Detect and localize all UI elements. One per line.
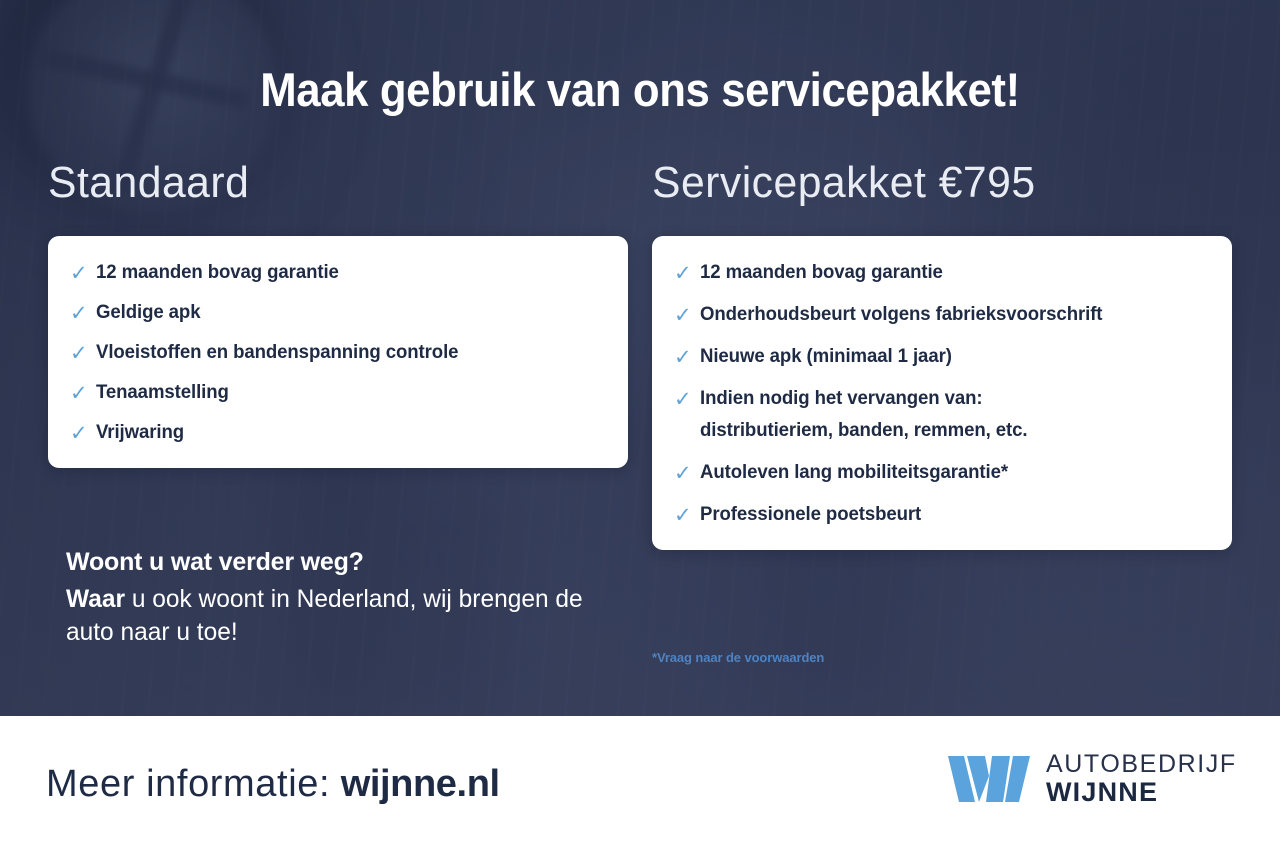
conditions-footnote: *Vraag naar de voorwaarden [652, 650, 824, 665]
list-item-sublabel: distributieriem, banden, remmen, etc. [700, 420, 1027, 442]
logo-line-wijnne: WIJNNE [1046, 779, 1237, 806]
column-title-servicepakket: Servicepakket €795 [652, 160, 1215, 206]
more-info-line: Meer informatie: wijnne.nl [46, 763, 500, 806]
servicepakket-feature-card: ✓ 12 maanden bovag garantie ✓ Onderhouds… [652, 236, 1232, 550]
more-info-label: Meer informatie: [46, 763, 330, 805]
list-item: ✓ Geldige apk [70, 302, 602, 324]
promo-body-bold: Waar [66, 585, 125, 613]
wijnne-w-mark-icon [948, 756, 1030, 802]
promo-title: Woont u wat verder weg? [66, 548, 626, 577]
page-title: Maak gebruik van ons servicepakket! [45, 62, 1235, 117]
check-icon: ✓ [70, 423, 89, 444]
promo-body-rest: u ook woont in Nederland, wij brengen de… [66, 585, 583, 646]
list-item: ✓ Professionele poetsbeurt [674, 504, 1206, 526]
standaard-feature-card: ✓ 12 maanden bovag garantie ✓ Geldige ap… [48, 236, 628, 468]
servicepakket-feature-list: ✓ 12 maanden bovag garantie ✓ Onderhouds… [674, 262, 1206, 526]
list-item: ✓ Tenaamstelling [70, 382, 602, 404]
column-standaard: Standaard ✓ 12 maanden bovag garantie ✓ … [48, 160, 628, 468]
check-icon: ✓ [70, 343, 89, 364]
column-servicepakket: Servicepakket €795 ✓ 12 maanden bovag ga… [652, 160, 1232, 550]
check-icon: ✓ [674, 505, 693, 526]
check-icon: ✓ [674, 305, 693, 326]
check-icon: ✓ [70, 263, 89, 284]
column-title-standaard: Standaard [48, 160, 611, 206]
logo-line-autobedrijf: AUTOBEDRIJF [1046, 752, 1237, 777]
logo-wordmark: AUTOBEDRIJF WIJNNE [1046, 752, 1237, 806]
service-package-poster: Maak gebruik van ons servicepakket! Stan… [0, 0, 1280, 853]
check-icon: ✓ [674, 389, 693, 410]
list-item: ✓ Vrijwaring [70, 422, 602, 444]
list-item: ✓ Vloeistoffen en bandenspanning control… [70, 342, 602, 364]
promo-block: Woont u wat verder weg? Waar u ook woont… [66, 548, 626, 650]
list-item: ✓ Nieuwe apk (minimaal 1 jaar) [674, 346, 1206, 368]
list-item: ✓ 12 maanden bovag garantie [674, 262, 1206, 284]
check-icon: ✓ [674, 463, 693, 484]
standaard-feature-list: ✓ 12 maanden bovag garantie ✓ Geldige ap… [70, 262, 602, 444]
list-item: ✓ 12 maanden bovag garantie [70, 262, 602, 284]
check-icon: ✓ [70, 303, 89, 324]
list-item: ✓ Autoleven lang mobiliteitsgarantie* [674, 462, 1206, 484]
check-icon: ✓ [674, 263, 693, 284]
website-link[interactable]: wijnne.nl [341, 763, 500, 805]
list-item-label: Indien nodig het vervangen van: [700, 388, 983, 409]
list-item: ✓ Onderhoudsbeurt volgens fabrieksvoorsc… [674, 304, 1206, 326]
list-item: ✓ Indien nodig het vervangen van: distri… [674, 388, 1206, 442]
promo-body: Waar u ook woont in Nederland, wij breng… [66, 583, 615, 650]
company-logo[interactable]: AUTOBEDRIJF WIJNNE [948, 752, 1237, 806]
check-icon: ✓ [70, 383, 89, 404]
check-icon: ✓ [674, 347, 693, 368]
